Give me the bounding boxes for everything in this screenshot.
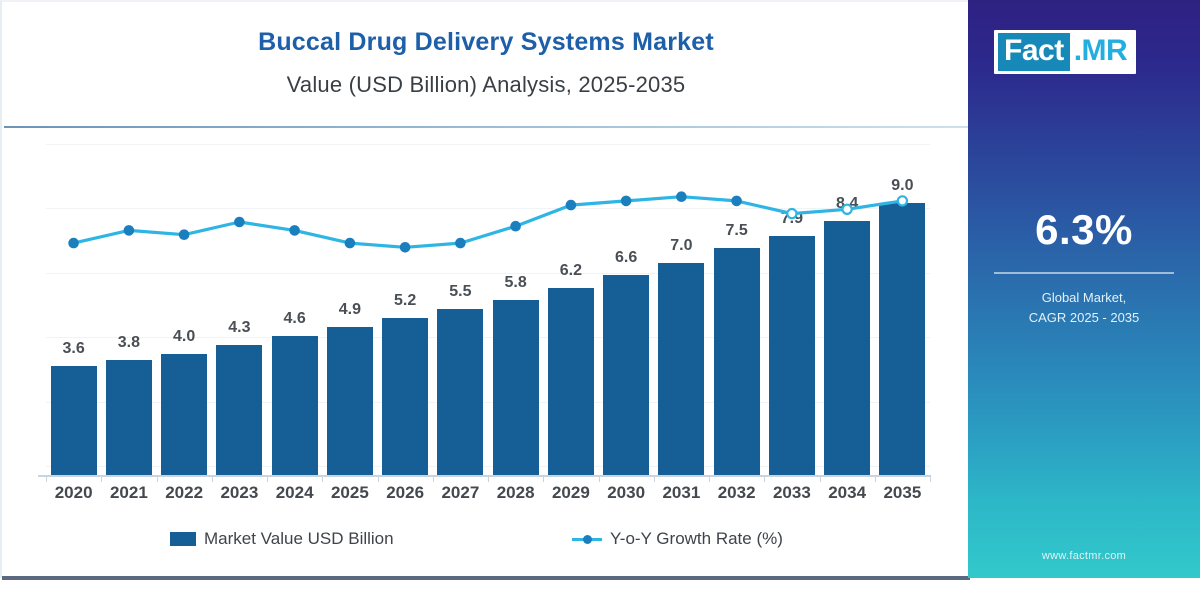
bottom-divider: [2, 576, 970, 580]
x-axis-tick: [267, 475, 268, 482]
cagr-caption-line1: Global Market,: [1042, 290, 1127, 305]
bar-2026[interactable]: [382, 318, 428, 475]
bar-value-label: 8.4: [817, 195, 877, 213]
x-axis-tick: [709, 475, 710, 482]
bar-value-label: 3.8: [99, 334, 159, 352]
bar-2031[interactable]: [658, 263, 704, 475]
x-axis-tick: [322, 475, 323, 482]
x-axis-tick: [764, 475, 765, 482]
bar-2032[interactable]: [714, 248, 760, 475]
x-axis-tick: [46, 475, 47, 482]
chart-card: Buccal Drug Delivery Systems Market Valu…: [0, 0, 968, 578]
bar-2033[interactable]: [769, 236, 815, 475]
x-axis-tick: [654, 475, 655, 482]
bar-value-label: 5.5: [430, 283, 490, 301]
bar-value-label: 3.6: [44, 340, 104, 358]
bar-2021[interactable]: [106, 360, 152, 475]
legend-label-bar: Market Value USD Billion: [204, 529, 394, 549]
x-axis-tick: [820, 475, 821, 482]
x-axis-tick: [212, 475, 213, 482]
x-axis-tick: [157, 475, 158, 482]
legend-item-bar[interactable]: Market Value USD Billion: [170, 529, 394, 549]
page-subtitle: Value (USD Billion) Analysis, 2025-2035: [2, 72, 970, 98]
bar-2023[interactable]: [216, 345, 262, 475]
header-divider: [4, 126, 968, 128]
bar-swatch-icon: [170, 532, 196, 546]
x-axis-tick: [543, 475, 544, 482]
x-axis-tick: [599, 475, 600, 482]
bar-value-label: 6.6: [596, 249, 656, 267]
x-axis-tick: [378, 475, 379, 482]
line-marker-icon: [572, 532, 602, 546]
cagr-caption: Global Market, CAGR 2025 - 2035: [968, 288, 1200, 327]
bar-2022[interactable]: [161, 354, 207, 475]
bar-value-label: 7.5: [707, 222, 767, 240]
bar-value-label: 4.0: [154, 328, 214, 346]
bar-value-label: 5.2: [375, 292, 435, 310]
bar-2024[interactable]: [272, 336, 318, 475]
cagr-divider: [994, 272, 1174, 274]
bar-value-label: 4.6: [265, 310, 325, 328]
chart-header: Buccal Drug Delivery Systems Market Valu…: [2, 10, 970, 128]
bar-2020[interactable]: [51, 366, 97, 475]
cagr-value: 6.3%: [968, 206, 1200, 254]
brand-website-url: www.factmr.com: [968, 550, 1200, 562]
legend-label-line: Y-o-Y Growth Rate (%): [610, 529, 783, 549]
bar-2030[interactable]: [603, 275, 649, 475]
x-axis-tick: [433, 475, 434, 482]
x-axis-tick: [488, 475, 489, 482]
bar-value-label: 4.9: [320, 301, 380, 319]
gridline: [46, 144, 930, 145]
bar-2029[interactable]: [548, 288, 594, 475]
x-axis-tick: [930, 475, 931, 482]
logo-text-mr: .MR: [1070, 33, 1132, 71]
bar-value-label: 6.2: [541, 262, 601, 280]
bar-2034[interactable]: [824, 221, 870, 475]
x-axis-line: [38, 475, 930, 477]
bar-value-label: 7.0: [651, 237, 711, 255]
bar-2027[interactable]: [437, 309, 483, 475]
x-axis-tick: [101, 475, 102, 482]
bar-2035[interactable]: [879, 203, 925, 475]
bar-value-label: 9.0: [872, 177, 932, 195]
brand-panel: Fact .MR 6.3% Global Market, CAGR 2025 -…: [968, 0, 1200, 578]
bar-value-label: 4.3: [209, 319, 269, 337]
x-axis-label-2035: 2035: [870, 483, 934, 503]
page-title: Buccal Drug Delivery Systems Market: [2, 28, 970, 57]
cagr-caption-line2: CAGR 2025 - 2035: [1029, 310, 1140, 325]
logo-text-fact: Fact: [998, 33, 1070, 71]
infographic-canvas: Buccal Drug Delivery Systems Market Valu…: [0, 0, 1200, 600]
x-axis-tick: [875, 475, 876, 482]
bar-value-label: 5.8: [486, 274, 546, 292]
chart-legend: Market Value USD Billion Y-o-Y Growth Ra…: [2, 527, 970, 561]
legend-item-line[interactable]: Y-o-Y Growth Rate (%): [572, 529, 783, 549]
bar-2025[interactable]: [327, 327, 373, 475]
bar-value-label: 7.9: [762, 210, 822, 228]
factmr-logo[interactable]: Fact .MR: [994, 30, 1136, 74]
bar-2028[interactable]: [493, 300, 539, 475]
